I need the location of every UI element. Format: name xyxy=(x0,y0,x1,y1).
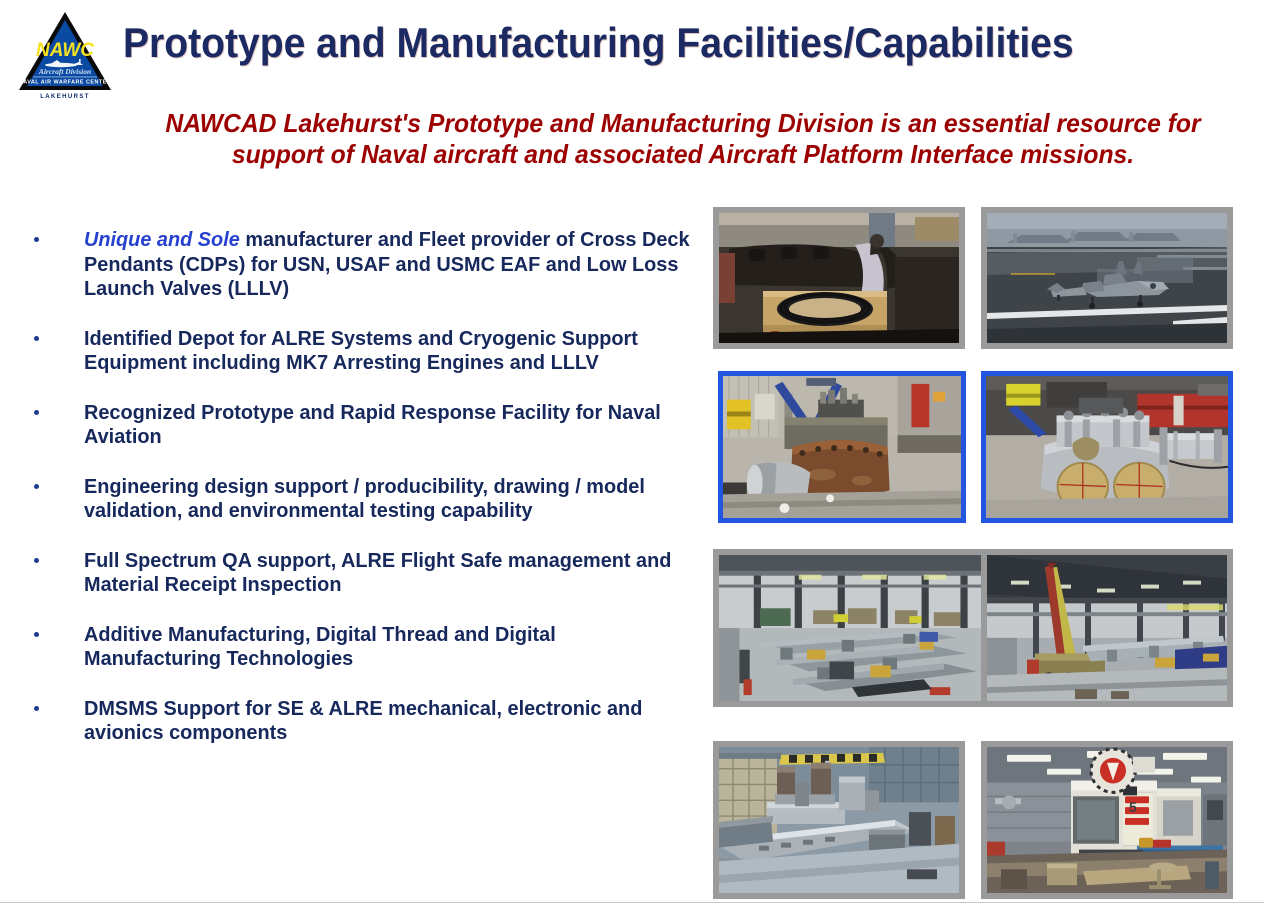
nawc-lakehurst-logo: NAWC Aircraft Division NAVAL AIR WARFARE… xyxy=(13,6,117,110)
bullet-highlight: Unique and Sole xyxy=(84,228,240,251)
svg-text:Aircraft Division: Aircraft Division xyxy=(38,67,91,76)
logo-site-label: LAKEHURST xyxy=(13,94,117,100)
list-item: Unique and Sole manufacturer and Fleet p… xyxy=(22,228,712,302)
corroded-valve-photo xyxy=(718,371,966,523)
large-cnc-mill-bed-photo xyxy=(713,741,965,899)
bullet-dot-icon xyxy=(34,706,39,711)
slide: NAWC Aircraft Division NAVAL AIR WARFARE… xyxy=(0,0,1264,909)
list-item: Recognized Prototype and Rapid Response … xyxy=(22,401,712,450)
bullet-text: Identified Depot for ALRE Systems and Cr… xyxy=(84,327,693,376)
bullet-text: Unique and Sole manufacturer and Fleet p… xyxy=(84,228,693,302)
photo-grid: 5 xyxy=(713,207,1233,899)
bullet-text: DMSMS Support for SE & ALRE mechanical, … xyxy=(84,697,693,746)
arresting-engine-shop-photo xyxy=(713,549,991,707)
page-title: Prototype and Manufacturing Facilities/C… xyxy=(123,20,1165,66)
cdp-cable-crate-photo xyxy=(713,207,965,349)
list-item: Identified Depot for ALRE Systems and Cr… xyxy=(22,327,712,376)
bullet-text: Full Spectrum QA support, ALRE Flight Sa… xyxy=(84,549,693,598)
bullet-dot-icon xyxy=(34,410,39,415)
svg-text:5: 5 xyxy=(1129,799,1137,815)
svg-text:NAWC: NAWC xyxy=(36,40,94,61)
footer-divider xyxy=(0,902,1264,903)
cnc-machining-center-photo: 5 xyxy=(981,741,1233,899)
bullet-dot-icon xyxy=(34,558,39,563)
svg-text:NAVAL AIR WARFARE CENTER: NAVAL AIR WARFARE CENTER xyxy=(19,80,111,86)
overhauled-lllv-photo xyxy=(981,371,1233,523)
bullet-dot-icon xyxy=(34,336,39,341)
list-item: Full Spectrum QA support, ALRE Flight Sa… xyxy=(22,549,712,598)
capabilities-list: Unique and Sole manufacturer and Fleet p… xyxy=(22,228,712,771)
slide-subtitle: NAWCAD Lakehurst's Prototype and Manufac… xyxy=(156,108,1211,170)
list-item: Additive Manufacturing, Digital Thread a… xyxy=(22,623,712,672)
bullet-text: Additive Manufacturing, Digital Thread a… xyxy=(84,623,693,672)
bullet-dot-icon xyxy=(34,484,39,489)
bullet-text: Recognized Prototype and Rapid Response … xyxy=(84,401,693,450)
bullet-text: Engineering design support / producibili… xyxy=(84,475,693,524)
hangar-crane-assembly-photo xyxy=(981,549,1233,707)
bullet-dot-icon xyxy=(34,237,39,242)
list-item: Engineering design support / producibili… xyxy=(22,475,712,524)
fa18-carrier-deck-photo xyxy=(981,207,1233,349)
bullet-dot-icon xyxy=(34,632,39,637)
list-item: DMSMS Support for SE & ALRE mechanical, … xyxy=(22,697,712,746)
